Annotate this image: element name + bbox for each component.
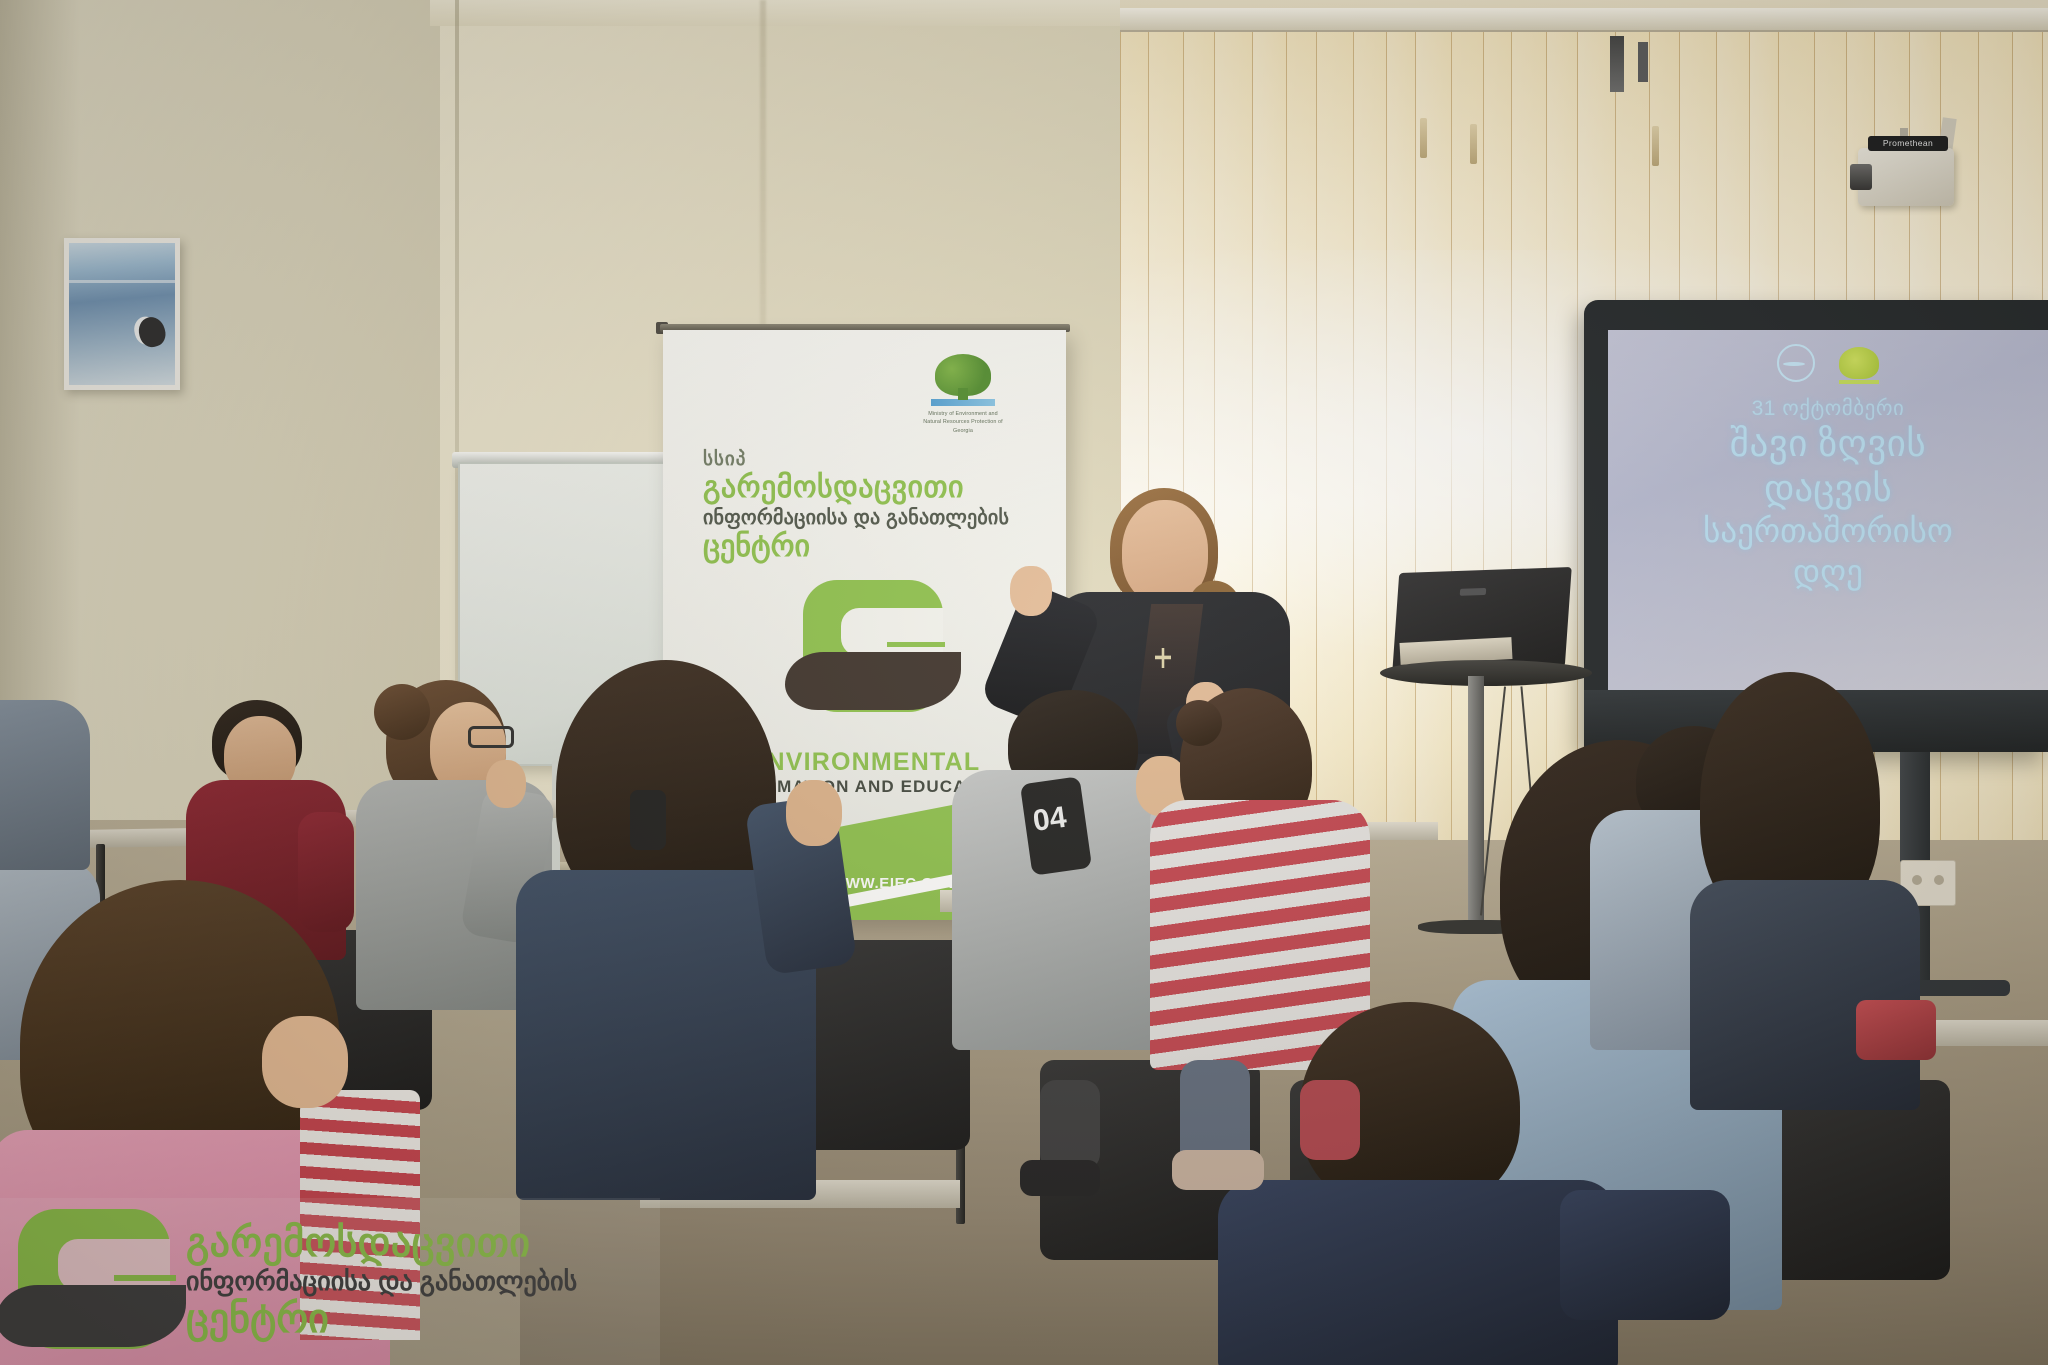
projector-brand-label: Promethean (1868, 136, 1948, 151)
laptop-badge (1460, 588, 1487, 596)
open-book-icon (785, 652, 961, 714)
ministry-logo-caption: Ministry of Environment and Natural Reso… (919, 410, 1007, 435)
blind-slat-face (1484, 14, 1510, 954)
projector: Promethean (1848, 128, 1968, 210)
slide-line-1: შავი ზღვის (1608, 421, 2048, 466)
slide-logo-row (1608, 344, 2048, 382)
banner-line-green-1: გარემოსდაცვითი (703, 471, 1033, 506)
tree-icon (935, 354, 991, 396)
blind-weight (1652, 126, 1659, 166)
student-hand (486, 760, 526, 808)
glasses-icon (468, 726, 514, 748)
presenter-hand-left (1010, 566, 1052, 616)
slide-text-block: 31 ოქტომბერი შავი ზღვის დაცვის საერთაშორ… (1608, 396, 2048, 592)
projector-lens (1850, 164, 1872, 190)
slide-line-3: საერთაშორისო (1608, 511, 2048, 551)
framed-photo (64, 238, 180, 390)
blind-slat (1386, 14, 1387, 954)
slide-line-4: დღე (1608, 552, 2048, 592)
blind-slat-face (1387, 14, 1414, 954)
projector-ceiling-bracket (1610, 36, 1624, 92)
blind-slat (1415, 14, 1416, 954)
banner-line-green-2: ცენტრი (703, 530, 1033, 565)
hoodie-patch: 04 (1020, 776, 1092, 875)
student-arm (1560, 1190, 1730, 1320)
podium-column (1468, 676, 1484, 926)
projector-body (1858, 148, 1954, 206)
hoodie-patch-number: 04 (1031, 801, 1069, 839)
blind-slat (1451, 14, 1452, 954)
blind-slat (1511, 14, 1512, 954)
blind-weight (1470, 124, 1477, 164)
watermark-line-3: ცენტრი (186, 1297, 577, 1342)
banner-title-block: სსიპ გარემოსდაცვითი ინფორმაციისა და განა… (703, 448, 1033, 564)
water-bar-icon (931, 399, 995, 406)
horizon-line (69, 280, 175, 283)
student-hand (786, 780, 842, 846)
banner-line-dark: ინფორმაციისა და განათლების (703, 506, 1033, 530)
open-book-icon (0, 1285, 186, 1351)
hair-clip-icon (630, 790, 666, 850)
student-shoe (1172, 1150, 1264, 1190)
sea-circle-icon (1777, 344, 1815, 382)
blind-rail (1120, 8, 2048, 32)
watermark: გარემოსდაცვითი ინფორმაციისა და განათლები… (0, 1198, 660, 1365)
projector-ceiling-bracket-2 (1638, 42, 1648, 82)
classroom-photo: Ministry of Environment and Natural Reso… (0, 0, 2048, 1365)
student-leg (1040, 1080, 1100, 1170)
eiec-logo-mark (803, 580, 943, 720)
banner-line-small: სსიპ (703, 448, 1033, 471)
student-shoe (1020, 1160, 1100, 1196)
podium-tabletop (1380, 660, 1592, 686)
student-arm (298, 812, 354, 932)
watermark-line-1: გარემოსდაცვითი (186, 1221, 577, 1266)
ponytail (1176, 700, 1222, 746)
ministry-logo: Ministry of Environment and Natural Reso… (919, 354, 1007, 432)
watermark-text: გარემოსდაცვითი ინფორმაციისა და განათლები… (186, 1221, 577, 1342)
ceiling-strip (430, 0, 1190, 26)
watermark-logo (18, 1209, 170, 1355)
projection-screen: 31 ოქტომბერი შავი ზღვის დაცვის საერთაშორ… (1608, 330, 2048, 690)
student-hand (262, 1016, 348, 1108)
blind-weight (1420, 118, 1427, 158)
watermark-line-2: ინფორმაციისა და განათლების (186, 1266, 577, 1297)
student-body (1690, 880, 1920, 1110)
slide-date: 31 ოქტომბერი (1608, 396, 2048, 421)
slide-line-2: დაცვის (1608, 466, 2048, 511)
bird-icon (135, 314, 168, 350)
student-leg (1300, 1080, 1360, 1160)
red-bag (1856, 1000, 1936, 1060)
student-body (0, 700, 90, 870)
green-tree-icon (1839, 347, 1879, 379)
framed-photo-image (69, 243, 175, 385)
student-body (1218, 1180, 1618, 1365)
hair-bun (374, 684, 430, 740)
